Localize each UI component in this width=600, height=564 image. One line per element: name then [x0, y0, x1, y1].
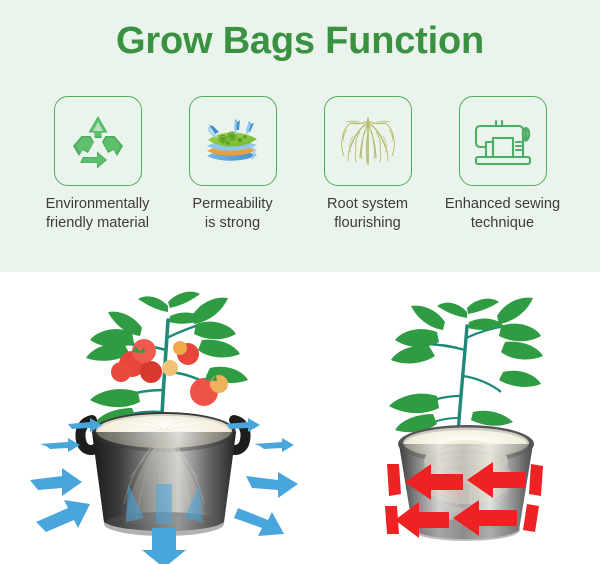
heat-arrow-wrap-right-lower — [523, 504, 539, 532]
comparison-panel — [0, 272, 600, 564]
feature-caption: Permeability is strong — [168, 195, 298, 233]
icon-card-sewing-machine — [459, 96, 547, 186]
infographic-root: Grow Bags Function — [0, 0, 600, 564]
heat-arrow-wrap-left-lower — [385, 506, 399, 534]
feature-caption: Environmentally friendly material — [33, 195, 163, 233]
illustration-fabric-grow-bag — [20, 272, 340, 564]
icon-card-root-system — [324, 96, 412, 186]
feature-caption-line1: Environmentally — [46, 196, 150, 212]
features-panel: Grow Bags Function — [0, 0, 600, 272]
feature-caption: Root system flourishing — [303, 195, 433, 233]
feature-item-root-system: Root system flourishing — [323, 96, 413, 233]
airflow-arrow-right-top — [254, 438, 294, 452]
feature-caption-line2: friendly material — [46, 215, 149, 231]
sewing-machine-icon — [471, 112, 535, 170]
feature-item-sewing-technique: Enhanced sewing technique — [458, 96, 548, 233]
icon-card-recycle — [54, 96, 142, 186]
feature-caption-line1: Enhanced sewing — [445, 196, 560, 212]
recycle-icon — [67, 110, 129, 172]
feature-caption-line1: Root system — [327, 196, 408, 212]
icon-card-breathable-fabric — [189, 96, 277, 186]
feature-caption-line2: technique — [471, 215, 534, 231]
airflow-arrow-left-top — [40, 438, 80, 452]
airflow-arrow-right-bottom — [234, 508, 284, 536]
airflow-arrow-left-mid — [30, 468, 82, 496]
feature-item-permeability: Permeability is strong — [188, 96, 278, 233]
feature-caption-line2: flourishing — [334, 215, 401, 231]
feature-caption-line1: Permeability — [192, 196, 272, 212]
feature-caption: Enhanced sewing technique — [438, 195, 568, 233]
foliage — [389, 298, 543, 447]
feature-caption-line2: is strong — [205, 215, 260, 231]
airflow-arrow-right-mid — [246, 472, 298, 498]
heat-arrow-wrap-right — [529, 464, 543, 496]
root-system-icon — [333, 112, 403, 170]
airflow-arrow-left-bottom — [36, 500, 90, 532]
heat-arrow-wrap-left — [387, 464, 401, 496]
illustration-plastic-pot — [345, 272, 595, 564]
breathable-fabric-layers-icon — [199, 110, 267, 172]
feature-list: Environmentally friendly material — [0, 96, 600, 233]
page-title: Grow Bags Function — [0, 20, 600, 63]
feature-item-environmentally-friendly: Environmentally friendly material — [53, 96, 143, 233]
